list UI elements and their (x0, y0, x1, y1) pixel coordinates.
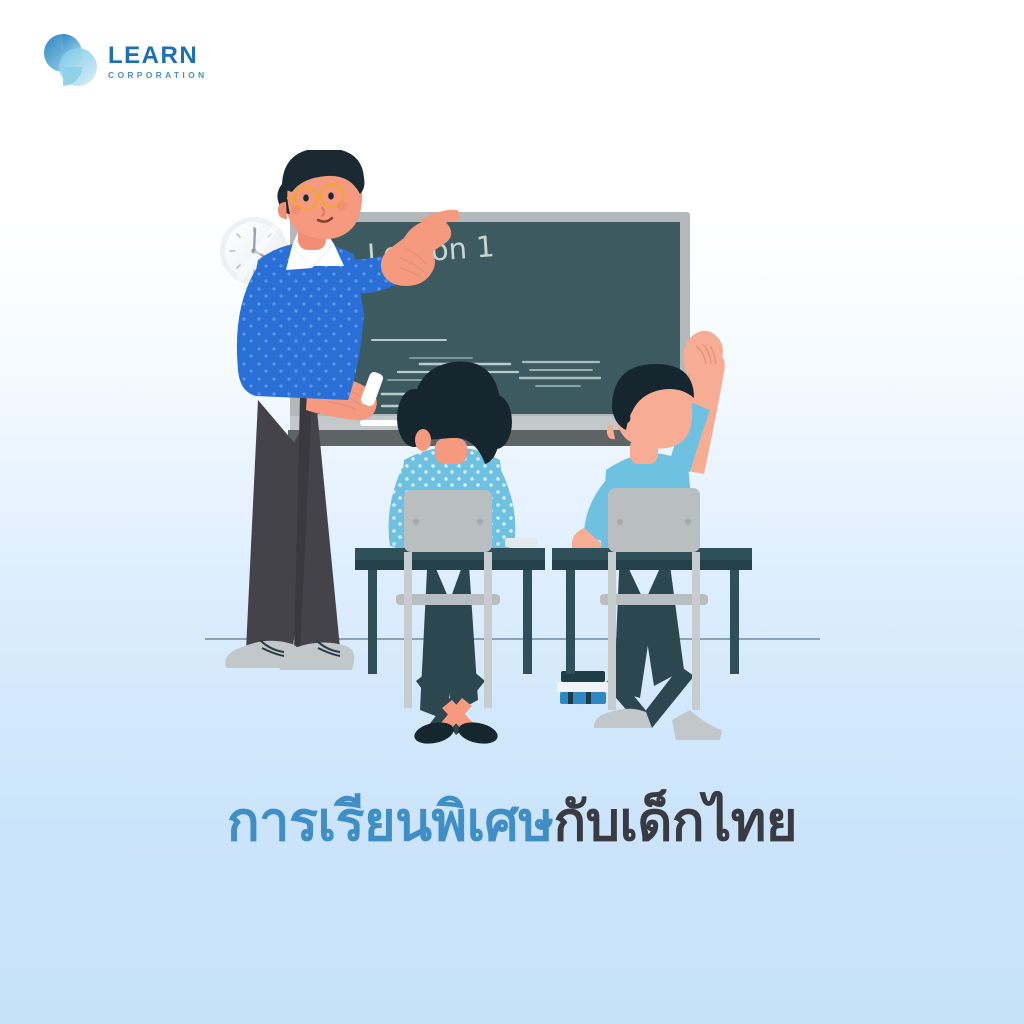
page-title: การเรียนพิเศษกับเด็กไทย (0, 778, 1024, 864)
poster-canvas: LEARN CORPORATION (0, 0, 1024, 1024)
book-stack-icon (557, 671, 609, 704)
brand-subtitle: CORPORATION (108, 71, 207, 80)
brand-logo[interactable]: LEARN CORPORATION (42, 30, 242, 92)
brand-name: LEARN (108, 44, 207, 68)
headline-blue: การเรียนพิเศษ (227, 792, 553, 852)
classroom-svg: Lesson 1 (0, 150, 1024, 790)
brand-wordmark: LEARN CORPORATION (108, 44, 207, 80)
classroom-illustration: Lesson 1 (0, 150, 1024, 790)
headline-dark: กับเด็กไทย (553, 792, 797, 852)
two-overlapping-circles-logo-icon (42, 30, 102, 90)
